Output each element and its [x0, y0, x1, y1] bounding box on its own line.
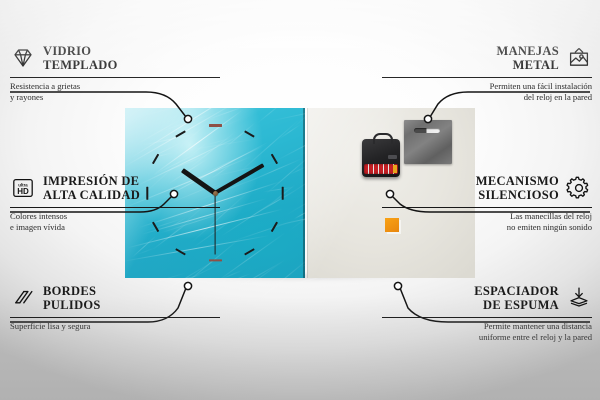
- feature-desc-line1: Permite mantener una distancia: [484, 321, 592, 331]
- feature-espaciador-espuma: ESPACIADOR DE ESPUMA Permite mantener un…: [382, 284, 592, 343]
- feature-title-line2: DE ESPUMA: [483, 298, 559, 312]
- feature-header: MANEJAS METAL: [382, 44, 592, 73]
- feature-header: VIDRIO TEMPLADO: [10, 44, 220, 73]
- feature-description: Colores intensos e imagen vívida: [10, 211, 220, 233]
- arrow-down-layers-icon: [566, 286, 592, 310]
- feature-vidrio-templado: VIDRIO TEMPLADO Resistencia a grietas y …: [10, 44, 220, 103]
- feature-desc-line2: uniforme entre el reloj y la pared: [479, 332, 592, 342]
- feature-title: VIDRIO TEMPLADO: [43, 44, 118, 73]
- feature-impresion-alta-calidad: ultra HD IMPRESIÓN DE ALTA CALIDAD Color…: [10, 174, 220, 233]
- mechanism-detail: [388, 155, 397, 159]
- feature-title-line1: ESPACIADOR: [474, 284, 559, 298]
- feature-divider: [382, 317, 592, 318]
- feature-divider: [382, 207, 592, 208]
- clock-tick: [209, 259, 222, 261]
- feature-header: ultra HD IMPRESIÓN DE ALTA CALIDAD: [10, 174, 220, 203]
- clock-tick: [244, 130, 254, 137]
- feature-desc-line1: Superficie lisa y segura: [10, 321, 90, 331]
- feature-title-line2: PULIDOS: [43, 298, 101, 312]
- feature-title-line1: BORDES: [43, 284, 96, 298]
- infographic-canvas: VIDRIO TEMPLADO Resistencia a grietas y …: [0, 0, 600, 400]
- feature-description: Permite mantener una distancia uniforme …: [382, 321, 592, 343]
- feature-divider: [10, 207, 220, 208]
- feature-description: Permiten una fácil instalación del reloj…: [382, 81, 592, 103]
- ultra-hd-badge-icon: ultra HD: [10, 176, 36, 200]
- feature-mecanismo-silencioso: MECANISMO SILENCIOSO Las manecillas del …: [382, 174, 592, 233]
- feature-desc-line2: e imagen vívida: [10, 222, 65, 232]
- metal-hanger-plate: [404, 120, 452, 164]
- feature-desc-line2: del reloj en la pared: [524, 92, 592, 102]
- feature-title-line2: ALTA CALIDAD: [43, 188, 140, 202]
- feature-title: BORDES PULIDOS: [43, 284, 101, 313]
- feature-title-line2: METAL: [513, 58, 559, 72]
- clock-tick: [271, 222, 278, 232]
- feature-divider: [10, 317, 220, 318]
- feature-desc-line1: Las manecillas del reloj: [510, 211, 592, 221]
- feature-title-line1: IMPRESIÓN DE: [43, 174, 139, 188]
- feature-divider: [10, 77, 220, 78]
- feature-desc-line1: Resistencia a grietas: [10, 81, 80, 91]
- ultra-hd-main-text: HD: [17, 187, 29, 196]
- gear-icon: [566, 176, 592, 200]
- feature-header: BORDES PULIDOS: [10, 284, 220, 313]
- feature-title-line2: SILENCIOSO: [478, 188, 559, 202]
- feature-title: ESPACIADOR DE ESPUMA: [474, 284, 559, 313]
- feature-description: Superficie lisa y segura: [10, 321, 220, 332]
- feature-desc-line1: Permiten una fácil instalación: [490, 81, 592, 91]
- feature-desc-line1: Colores intensos: [10, 211, 67, 221]
- clock-tick: [281, 186, 283, 199]
- feature-header: ESPACIADOR DE ESPUMA: [382, 284, 592, 313]
- feature-title-line1: VIDRIO: [43, 44, 91, 58]
- feature-description: Resistencia a grietas y rayones: [10, 81, 220, 103]
- feature-description: Las manecillas del reloj no emiten ningú…: [382, 211, 592, 233]
- feature-title: MANEJAS METAL: [496, 44, 559, 73]
- feature-title: MECANISMO SILENCIOSO: [476, 174, 559, 203]
- picture-frame-hanging-icon: [566, 46, 592, 70]
- hanger-slot: [414, 128, 440, 133]
- mechanism-loop: [373, 133, 393, 144]
- feature-desc-line2: no emiten ningún sonido: [507, 222, 592, 232]
- feature-desc-line2: y rayones: [10, 92, 43, 102]
- feature-title-line2: TEMPLADO: [43, 58, 118, 72]
- diamond-icon: [10, 46, 36, 70]
- feature-header: MECANISMO SILENCIOSO: [382, 174, 592, 203]
- battery-terminal: [393, 165, 397, 173]
- feature-title-line1: MECANISMO: [476, 174, 559, 188]
- feature-bordes-pulidos: BORDES PULIDOS Superficie lisa y segura: [10, 284, 220, 332]
- feature-title-line1: MANEJAS: [496, 44, 559, 58]
- feature-divider: [382, 77, 592, 78]
- diagonal-lines-icon: [10, 286, 36, 310]
- quartz-mechanism: [362, 139, 400, 177]
- feature-manejas-metal: MANEJAS METAL Permiten una fácil instala…: [382, 44, 592, 103]
- feature-title: IMPRESIÓN DE ALTA CALIDAD: [43, 174, 140, 203]
